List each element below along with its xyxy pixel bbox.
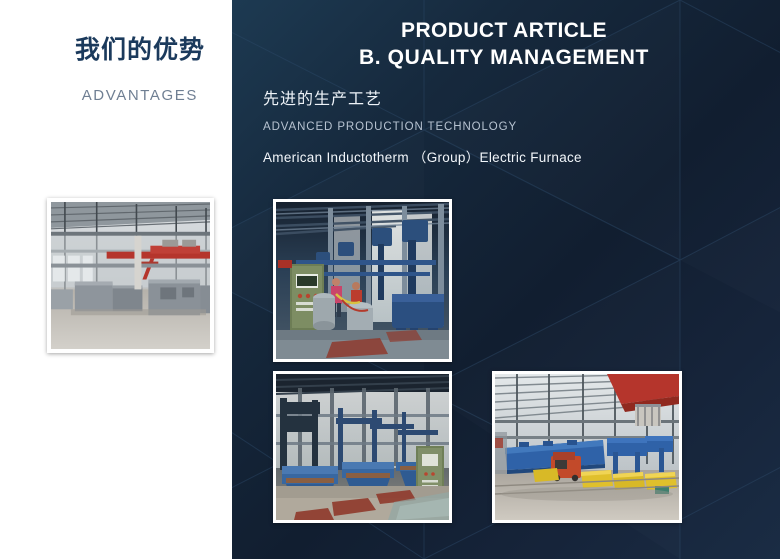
subtitle-description: American Inductotherm （Group）Electric Fu… — [263, 148, 582, 168]
page-title-line-2: B. QUALITY MANAGEMENT — [228, 45, 780, 72]
photo-2-image — [276, 202, 449, 359]
photo-factory-floor-gray-furnaces — [47, 198, 214, 353]
subtitle-block: 先进的生产工艺 ADVANCED PRODUCTION TECHNOLOGY A… — [263, 88, 582, 169]
photo-blue-press-line-green-control-panel — [273, 199, 452, 362]
subtitle-chinese: 先进的生产工艺 — [263, 88, 582, 112]
page-title-line-1: PRODUCT ARTICLE — [228, 18, 780, 45]
photo-3-image — [276, 374, 449, 520]
photo-blue-press-row-red-mats — [273, 371, 452, 523]
photo-1-image — [51, 202, 210, 349]
photo-large-hall-blue-tanks-yellow-bins — [492, 371, 682, 523]
section-heading-english: ADVANTAGES — [0, 88, 198, 103]
page-title-block: PRODUCT ARTICLE B. QUALITY MANAGEMENT — [228, 18, 780, 72]
subtitle-english: ADVANCED PRODUCTION TECHNOLOGY — [263, 118, 582, 136]
photo-4-image — [495, 374, 679, 520]
section-heading-chinese: 我们的优势 — [0, 38, 205, 63]
slide-canvas: 我们的优势 ADVANTAGES PRODUCT ARTICLE B. QUAL… — [0, 0, 780, 559]
